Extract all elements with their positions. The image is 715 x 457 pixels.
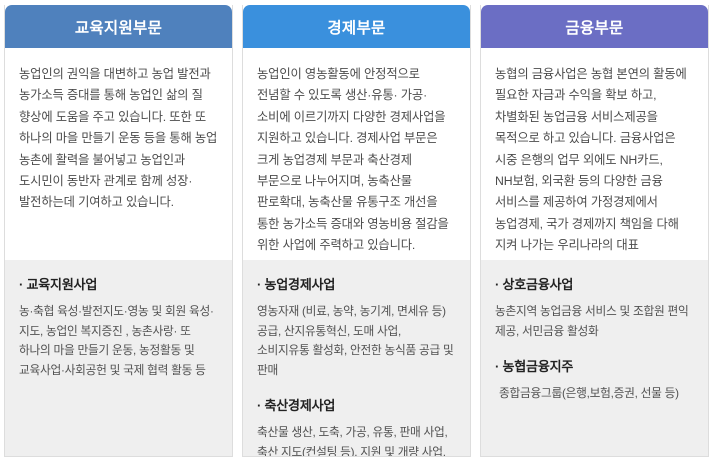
program-title: · 농협금융지주 bbox=[495, 356, 694, 375]
sector-description-economy: 농업인이 영농활동에 안정적으로 전념할 수 있도록 생산·유통· 가공·소비에… bbox=[243, 48, 470, 260]
sector-header-education-support: 교육지원부문 bbox=[5, 5, 232, 48]
program-title: · 상호금융사업 bbox=[495, 274, 694, 293]
sector-title-education-support: 교육지원부문 bbox=[75, 16, 162, 38]
business-sectors-board: 교육지원부문 농업인의 권익을 대변하고 농업 발전과 농가소득 증대를 통해 … bbox=[0, 0, 715, 457]
program-title: · 축산경제사업 bbox=[257, 395, 456, 414]
program-item: · 상호금융사업 농촌지역 농업금융 서비스 및 조합원 편익 제공, 서민금융… bbox=[495, 274, 694, 341]
sector-description-education-support: 농업인의 권익을 대변하고 농업 발전과 농가소득 증대를 통해 농업인 삶의 … bbox=[5, 48, 232, 260]
program-item: · 축산경제사업 축산물 생산, 도축, 가공, 유통, 판매 사업, 축산 지… bbox=[257, 395, 456, 456]
program-body: 축산물 생산, 도축, 가공, 유통, 판매 사업, 축산 지도(컨설팅 등),… bbox=[257, 423, 456, 456]
sector-card-education-support: 교육지원부문 농업인의 권익을 대변하고 농업 발전과 농가소득 증대를 통해 … bbox=[4, 5, 233, 457]
sector-header-finance: 금융부문 bbox=[481, 5, 708, 48]
sector-programs-economy: · 농업경제사업 영농자재 (비료, 농약, 농기계, 면세유 등) 공급, 산… bbox=[243, 260, 470, 456]
program-body: 농촌지역 농업금융 서비스 및 조합원 편익 제공, 서민금융 활성화 bbox=[495, 302, 694, 341]
program-title: · 농업경제사업 bbox=[257, 274, 456, 293]
sector-header-economy: 경제부문 bbox=[243, 5, 470, 48]
sector-card-economy: 경제부문 농업인이 영농활동에 안정적으로 전념할 수 있도록 생산·유통· 가… bbox=[242, 5, 471, 457]
program-item: · 농협금융지주 종합금융그룹(은행,보험,증권, 선물 등) bbox=[495, 356, 694, 404]
sector-title-finance: 금융부문 bbox=[565, 16, 623, 38]
sector-card-finance: 금융부문 농협의 금융사업은 농협 본연의 활동에 필요한 자금과 수익을 확보… bbox=[480, 5, 709, 457]
program-body: 농·축협 육성·발전지도·영농 및 회원 육성·지도, 농업인 복지증진 , 농… bbox=[19, 302, 218, 380]
sector-description-finance: 농협의 금융사업은 농협 본연의 활동에 필요한 자금과 수익을 확보 하고, … bbox=[481, 48, 708, 260]
program-item: · 농업경제사업 영농자재 (비료, 농약, 농기계, 면세유 등) 공급, 산… bbox=[257, 274, 456, 380]
sector-programs-education-support: · 교육지원사업 농·축협 육성·발전지도·영농 및 회원 육성·지도, 농업인… bbox=[5, 260, 232, 456]
program-item: · 교육지원사업 농·축협 육성·발전지도·영농 및 회원 육성·지도, 농업인… bbox=[19, 274, 218, 380]
program-title: · 교육지원사업 bbox=[19, 274, 218, 293]
program-body: 종합금융그룹(은행,보험,증권, 선물 등) bbox=[495, 384, 694, 404]
sector-title-economy: 경제부문 bbox=[327, 16, 385, 38]
sector-programs-finance: · 상호금융사업 농촌지역 농업금융 서비스 및 조합원 편익 제공, 서민금융… bbox=[481, 260, 708, 456]
program-body: 영농자재 (비료, 농약, 농기계, 면세유 등) 공급, 산지유통혁신, 도매… bbox=[257, 302, 456, 380]
